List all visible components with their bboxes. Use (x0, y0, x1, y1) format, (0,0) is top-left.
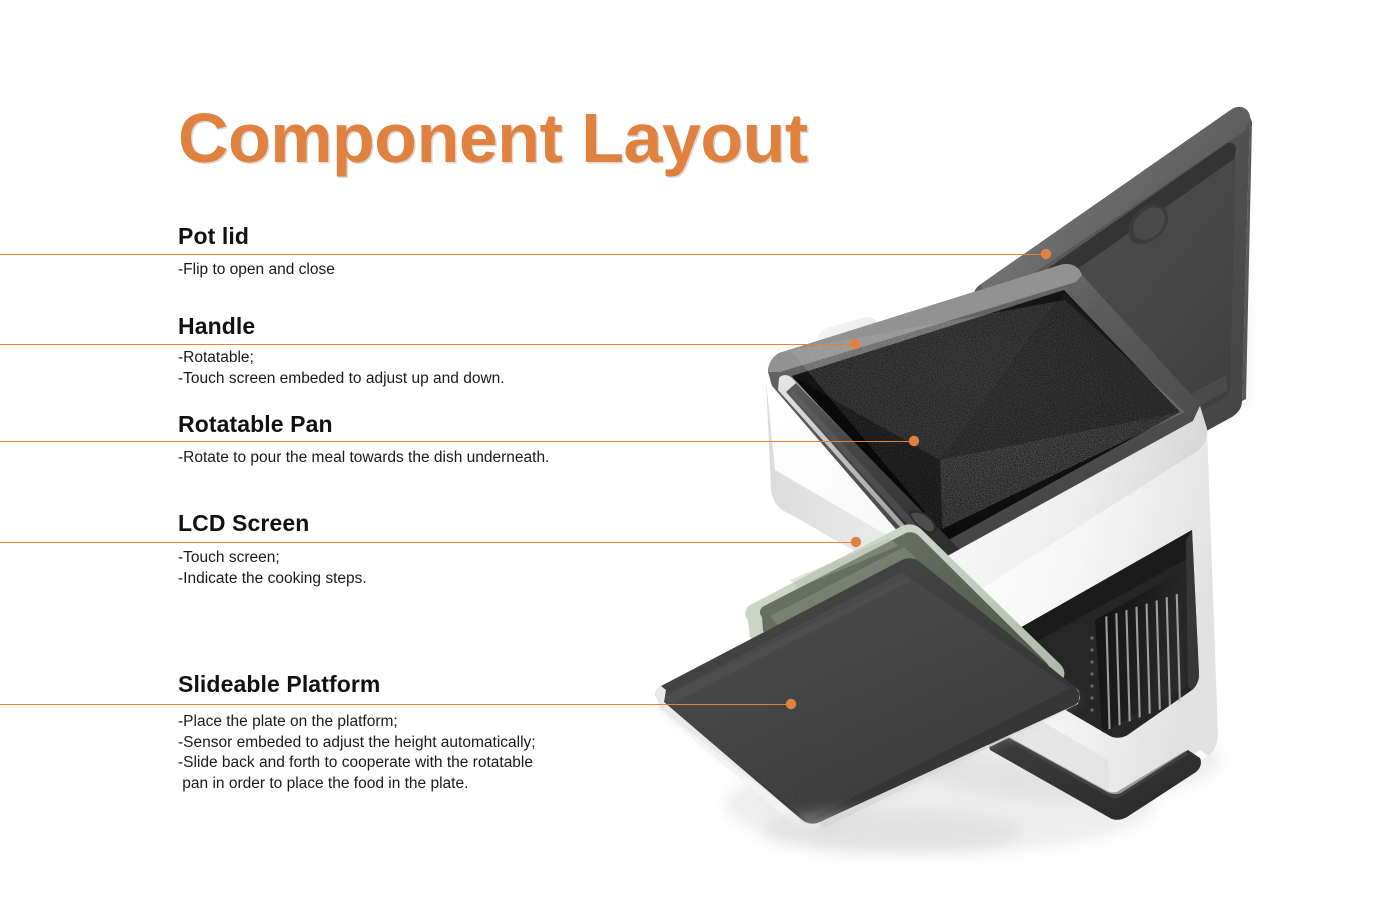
callout-heading-slideable-platform: Slideable Platform (178, 673, 380, 696)
callout-heading-pot-lid: Pot lid (178, 225, 249, 248)
component-layout-page: Component Layout (0, 0, 1400, 906)
callout-rule-lcd-screen (0, 542, 856, 543)
callout-rule-slideable-platform (0, 704, 791, 705)
callout-rule-pot-lid (0, 254, 1046, 255)
callout-description-lcd-screen: -Touch screen; -Indicate the cooking ste… (178, 548, 367, 589)
callout-heading-lcd-screen: LCD Screen (178, 512, 309, 535)
callout-description-rotatable-pan: -Rotate to pour the meal towards the dis… (178, 448, 549, 469)
callout-rule-handle (0, 344, 855, 345)
callout-heading-rotatable-pan: Rotatable Pan (178, 413, 333, 436)
callout-description-pot-lid: -Flip to open and close (178, 260, 335, 281)
product-illustration (640, 60, 1340, 870)
callout-description-handle: -Rotatable; -Touch screen embeded to adj… (178, 348, 505, 389)
callout-rule-rotatable-pan (0, 441, 914, 442)
callout-description-slideable-platform: -Place the plate on the platform; -Senso… (178, 712, 536, 794)
callout-heading-handle: Handle (178, 315, 255, 338)
